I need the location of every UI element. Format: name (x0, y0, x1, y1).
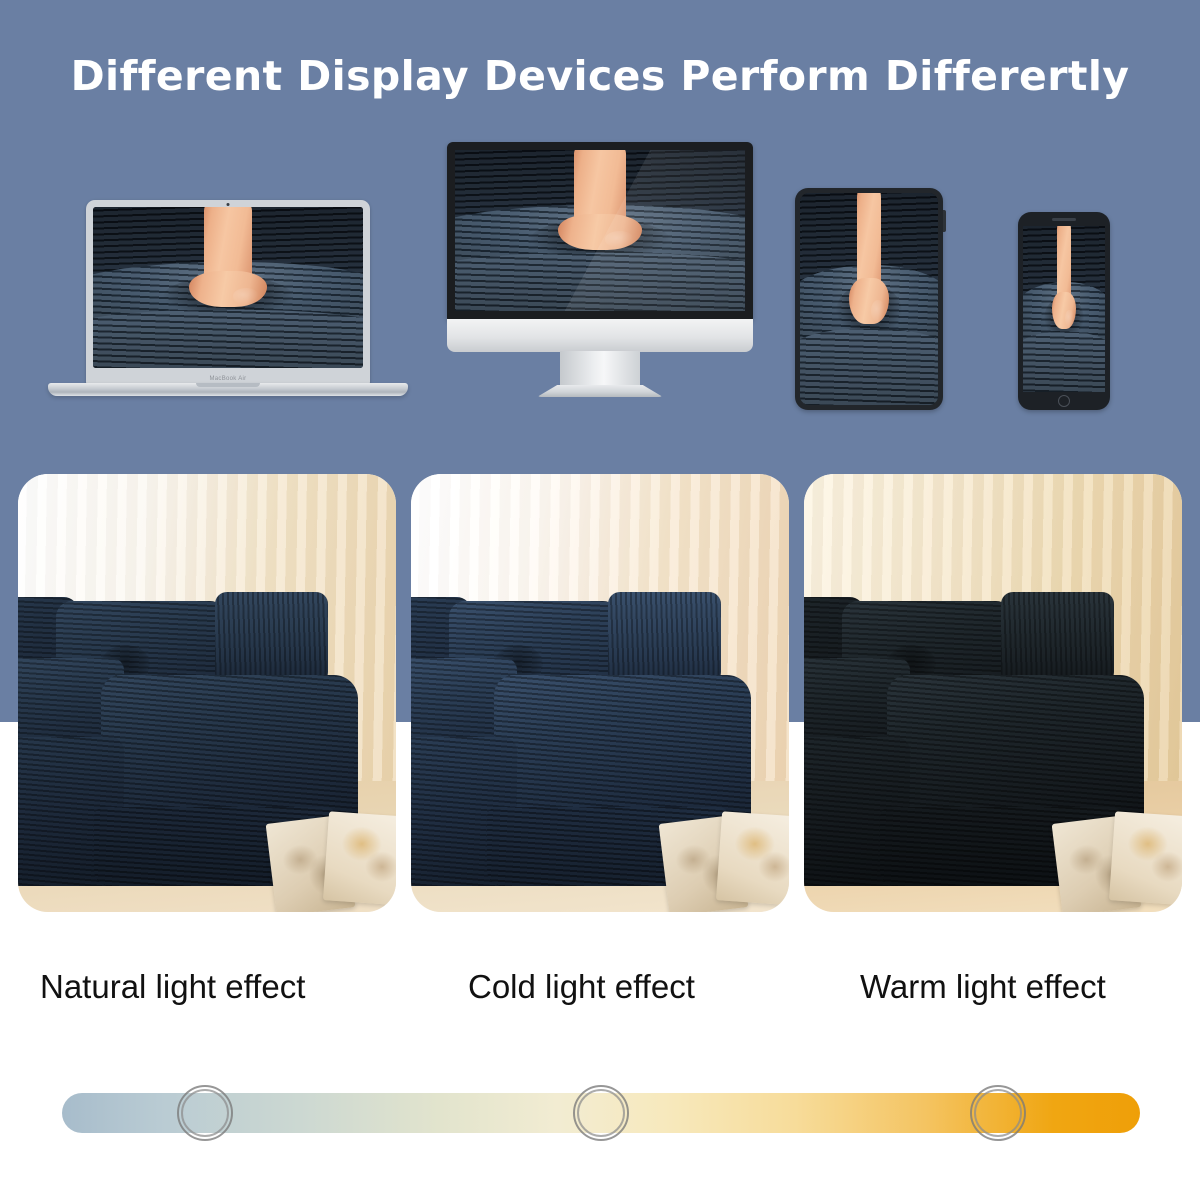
phone-mockup (1018, 212, 1110, 410)
magazine-page-right (323, 811, 396, 905)
cushion-front-edge (1023, 332, 1105, 392)
magazine-page-right (716, 811, 789, 905)
laptop-brand-label: MacBook Air (86, 376, 370, 382)
color-temperature-slider[interactable] (62, 1093, 1140, 1133)
model-heel (1052, 292, 1076, 329)
magazine-page-right (1109, 811, 1182, 905)
laptop-lid: MacBook Air (86, 200, 370, 385)
sofa-back-corner (215, 592, 328, 684)
tablet-screen (800, 193, 938, 405)
caption-cold-light: Cold light effect (468, 968, 695, 1006)
product-photo-foot-on-cushion (455, 150, 745, 311)
sofa-scene (411, 474, 789, 912)
light-effect-comparison (0, 474, 1200, 912)
floor-magazine (664, 798, 789, 912)
panel-warm-light (804, 474, 1182, 912)
infographic-page: Different Display Devices Perform Differ… (0, 0, 1200, 1200)
product-photo-foot-on-cushion (800, 193, 938, 405)
panel-natural-light (18, 474, 396, 912)
panel-cold-light (411, 474, 789, 912)
caption-natural-light: Natural light effect (40, 968, 305, 1006)
sofa-scene (804, 474, 1182, 912)
phone-home-button-icon (1058, 395, 1070, 407)
monitor-stand-neck (560, 351, 640, 386)
monitor-chin (447, 319, 753, 352)
cushion-front-edge (800, 329, 938, 405)
phone-screen (1023, 226, 1105, 392)
laptop-screen (93, 207, 363, 368)
caption-warm-light: Warm light effect (860, 968, 1106, 1006)
floor-magazine (271, 798, 396, 912)
cushion-front-edge (93, 310, 363, 368)
monitor-stand-foot (537, 385, 663, 397)
sofa-back-corner (1001, 592, 1114, 684)
monitor-screen (455, 150, 745, 311)
laptop-camera-icon (227, 203, 230, 206)
product-photo-foot-on-cushion (1023, 226, 1105, 392)
phone-speaker-icon (1052, 218, 1076, 221)
cushion-front-edge (455, 253, 745, 311)
tablet-power-button-icon (943, 210, 946, 232)
model-heel (849, 278, 889, 325)
sofa-scene (18, 474, 396, 912)
product-photo-foot-on-cushion (93, 207, 363, 368)
panel-captions: Natural light effect Cold light effect W… (0, 968, 1200, 1028)
slider-handle-warm[interactable] (970, 1085, 1026, 1141)
page-title: Different Display Devices Perform Differ… (0, 52, 1200, 100)
monitor-bezel (447, 142, 753, 320)
model-heel (558, 214, 642, 249)
sofa-back-corner (608, 592, 721, 684)
laptop-mockup: MacBook Air (48, 200, 408, 415)
laptop-trackpad-notch (196, 383, 260, 387)
tablet-mockup (795, 188, 947, 410)
monitor-mockup (437, 142, 763, 418)
phone-bezel (1018, 212, 1110, 410)
tablet-bezel (795, 188, 943, 410)
slider-handle-natural[interactable] (177, 1085, 233, 1141)
model-heel (189, 271, 267, 306)
floor-magazine (1057, 798, 1182, 912)
slider-handle-cold[interactable] (573, 1085, 629, 1141)
